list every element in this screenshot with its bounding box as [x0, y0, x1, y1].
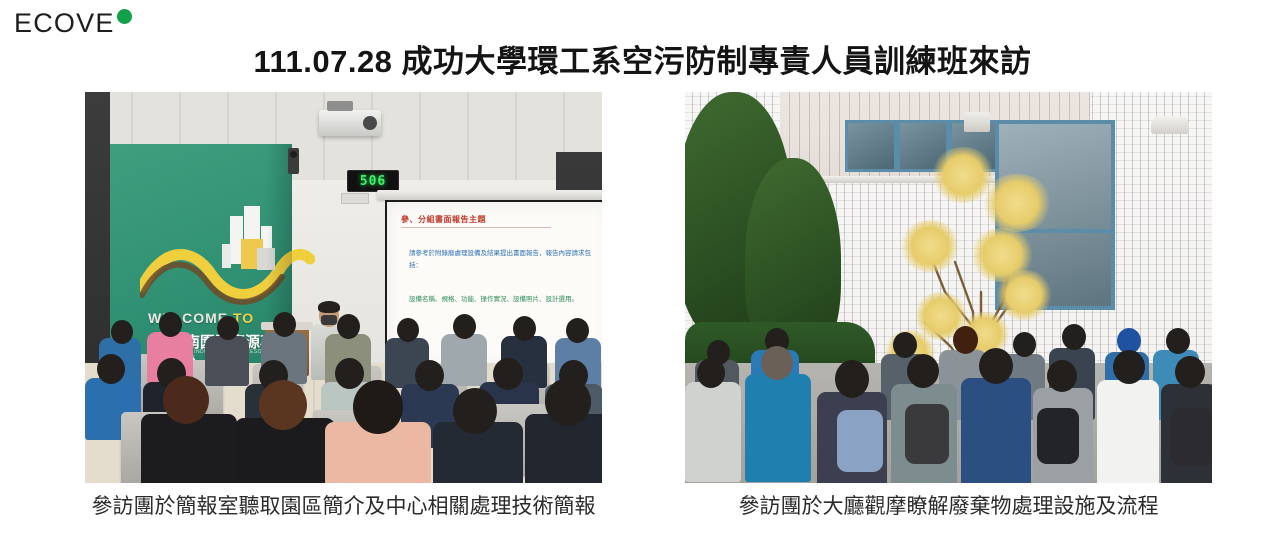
- visitor-head: [835, 360, 869, 398]
- backpack: [837, 410, 883, 472]
- projected-slide-rule: [401, 227, 551, 228]
- plant-bloom: [899, 220, 961, 272]
- attendee-head: [397, 318, 419, 342]
- attendee-head: [453, 314, 476, 339]
- lobby-tour-scene: [685, 92, 1212, 483]
- presenter-head: [319, 304, 339, 327]
- mural-building: [222, 244, 231, 268]
- led-display: 506: [347, 170, 399, 192]
- visitor: [961, 378, 1031, 483]
- ecove-logo: ECOVE: [14, 8, 132, 38]
- briefing-room-scene: WELCOME TO 台南園區資源再生中心 TAINAN INDUSTRIAL …: [85, 92, 602, 483]
- backpack: [905, 404, 949, 464]
- backpack: [1171, 408, 1212, 466]
- attendee-head: [493, 358, 523, 390]
- attendee-head: [453, 388, 497, 434]
- projected-slide-paragraph-2: 設備名稱、規格、功能、操作實況、設備照片、設計選用。: [409, 294, 595, 306]
- visitor: [745, 374, 811, 482]
- projected-slide-paragraph-1: 請參考於附錄廢處理設備及結果提出書面報告，報告內容請求包括：: [409, 248, 595, 272]
- attendee-head: [337, 314, 360, 339]
- visitor-head: [1047, 360, 1077, 392]
- visitor-head: [1013, 332, 1036, 357]
- attendee-head: [259, 380, 307, 430]
- caption-lobby-tour: 參訪團於大廳觀摩瞭解廢棄物處理設施及流程: [685, 490, 1212, 520]
- caption-briefing-room: 參訪團於簡報室聽取園區簡介及中心相關處理技術簡報: [85, 490, 602, 520]
- visitor-head: [1166, 328, 1190, 354]
- attendee-head: [335, 358, 364, 389]
- attendee-head: [513, 316, 536, 341]
- visitor-head: [1113, 350, 1145, 384]
- ceiling-projector: [319, 110, 381, 136]
- attendee-head: [111, 320, 133, 344]
- visitor: [1097, 380, 1159, 483]
- attendee-head: [566, 318, 589, 343]
- mural-building: [257, 248, 275, 270]
- visitor-head: [1175, 356, 1205, 388]
- attendee-head: [163, 376, 209, 424]
- logo-wordmark: ECOVE: [14, 8, 115, 38]
- visitor-head: [761, 346, 793, 380]
- wall-plaque: [341, 193, 369, 204]
- attendee: [141, 414, 237, 483]
- visitor-head: [1062, 324, 1086, 350]
- attendee: [205, 336, 249, 386]
- attendee-head: [273, 312, 296, 337]
- photo-briefing-room: WELCOME TO 台南園區資源再生中心 TAINAN INDUSTRIAL …: [85, 92, 602, 483]
- plant-bloom: [995, 270, 1053, 320]
- wall-speaker: [288, 148, 299, 174]
- visitor-head: [953, 326, 978, 354]
- attendee-head: [415, 360, 444, 391]
- attendee-head: [97, 354, 125, 384]
- screen-roller: [377, 190, 602, 200]
- plant-bloom: [981, 174, 1053, 232]
- projected-slide-heading: 參、分組書面報告主題: [401, 214, 486, 225]
- attendee-head: [217, 316, 239, 340]
- led-value: 506: [360, 174, 386, 189]
- wall-ac-unit: [964, 112, 990, 132]
- backpack: [1037, 408, 1079, 464]
- photo-lobby-tour: [685, 92, 1212, 483]
- attendee: [441, 334, 487, 386]
- attendee-head: [545, 378, 591, 426]
- attendee-head: [353, 380, 403, 434]
- visitor-head: [907, 354, 939, 388]
- attendee-head: [159, 312, 182, 337]
- green-dot-icon: [117, 9, 132, 24]
- wall-vent: [1151, 116, 1189, 134]
- visitor-head: [979, 348, 1013, 384]
- visitor-head: [697, 358, 725, 388]
- slide-title: 111.07.28 成功大學環工系空污防制專責人員訓練班來訪: [0, 36, 1285, 81]
- visitor: [685, 382, 741, 482]
- visitor-head: [893, 332, 917, 358]
